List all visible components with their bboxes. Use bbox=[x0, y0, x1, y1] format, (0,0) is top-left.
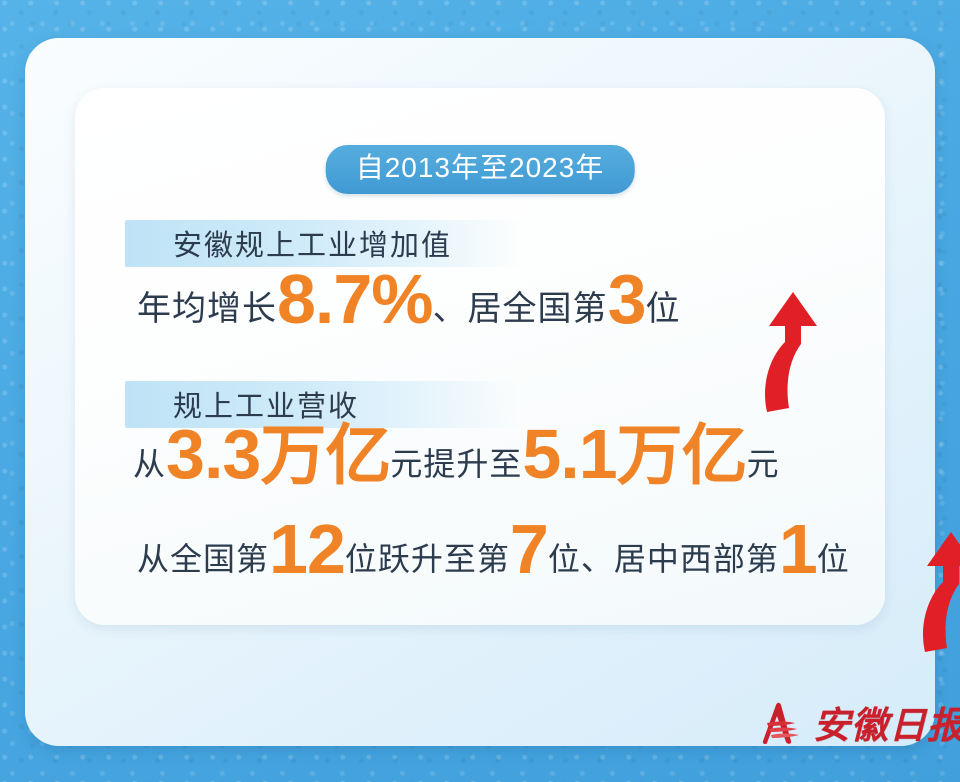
anhui-daily-emblem-icon bbox=[743, 701, 801, 750]
stat-value-rank-end: 7 bbox=[510, 516, 548, 583]
stat-value-national-rank: 3 bbox=[608, 266, 646, 333]
stat-value-revenue-start: 3.3 bbox=[166, 421, 260, 488]
section-header-label-1: 安徽规上工业增加值 bbox=[173, 222, 452, 264]
stat-row-rank: 从全国第 12 位跃升至第 7 位、居中西部第 1 位 bbox=[137, 513, 850, 580]
stat-text-mid: 元提升至 bbox=[390, 439, 522, 485]
stat-value-rank-start: 12 bbox=[269, 516, 345, 583]
stat-value-growth-rate: 8.7% bbox=[277, 266, 433, 333]
content-card: 自2013年至2023年 安徽规上工业增加值 年均增长 8.7% 、居全国第 3… bbox=[75, 88, 885, 625]
stat-text-prefix: 年均增长 bbox=[137, 281, 277, 330]
stat-text-prefix: 从 bbox=[133, 439, 166, 485]
stat-unit-revenue-start: 万亿 bbox=[260, 424, 390, 487]
stat-value-revenue-end: 5.1 bbox=[522, 421, 616, 488]
stat-text-suffix: 位 bbox=[817, 534, 850, 580]
stat-text-prefix: 从全国第 bbox=[137, 534, 269, 580]
stat-text-mid: 、居全国第 bbox=[433, 281, 608, 330]
stat-text-suffix: 元 bbox=[747, 439, 780, 485]
curved-up-arrow-icon bbox=[755, 286, 825, 421]
outer-panel: 自2013年至2023年 安徽规上工业增加值 年均增长 8.7% 、居全国第 3… bbox=[25, 38, 935, 746]
stat-unit-revenue-end: 万亿 bbox=[617, 424, 747, 487]
stat-text-mid-1: 位跃升至第 bbox=[345, 534, 510, 580]
period-title-text: 自2013年至2023年 bbox=[356, 152, 605, 183]
period-title-pill: 自2013年至2023年 bbox=[326, 145, 635, 194]
stat-text-mid-2: 位、居中西部第 bbox=[548, 534, 779, 580]
curved-up-arrow-icon bbox=[913, 526, 960, 661]
publisher-name: 安徽日报 bbox=[813, 707, 960, 744]
stat-row-growth: 年均增长 8.7% 、居全国第 3 位 bbox=[137, 263, 681, 330]
stat-value-centralwest-rank: 1 bbox=[779, 516, 817, 583]
infographic-root: 自2013年至2023年 安徽规上工业增加值 年均增长 8.7% 、居全国第 3… bbox=[0, 0, 960, 782]
stat-row-revenue: 从 3.3 万亿 元提升至 5.1 万亿 元 bbox=[133, 418, 780, 485]
stat-text-suffix: 位 bbox=[646, 281, 681, 330]
publisher-logo: 安徽日报 bbox=[743, 701, 960, 750]
